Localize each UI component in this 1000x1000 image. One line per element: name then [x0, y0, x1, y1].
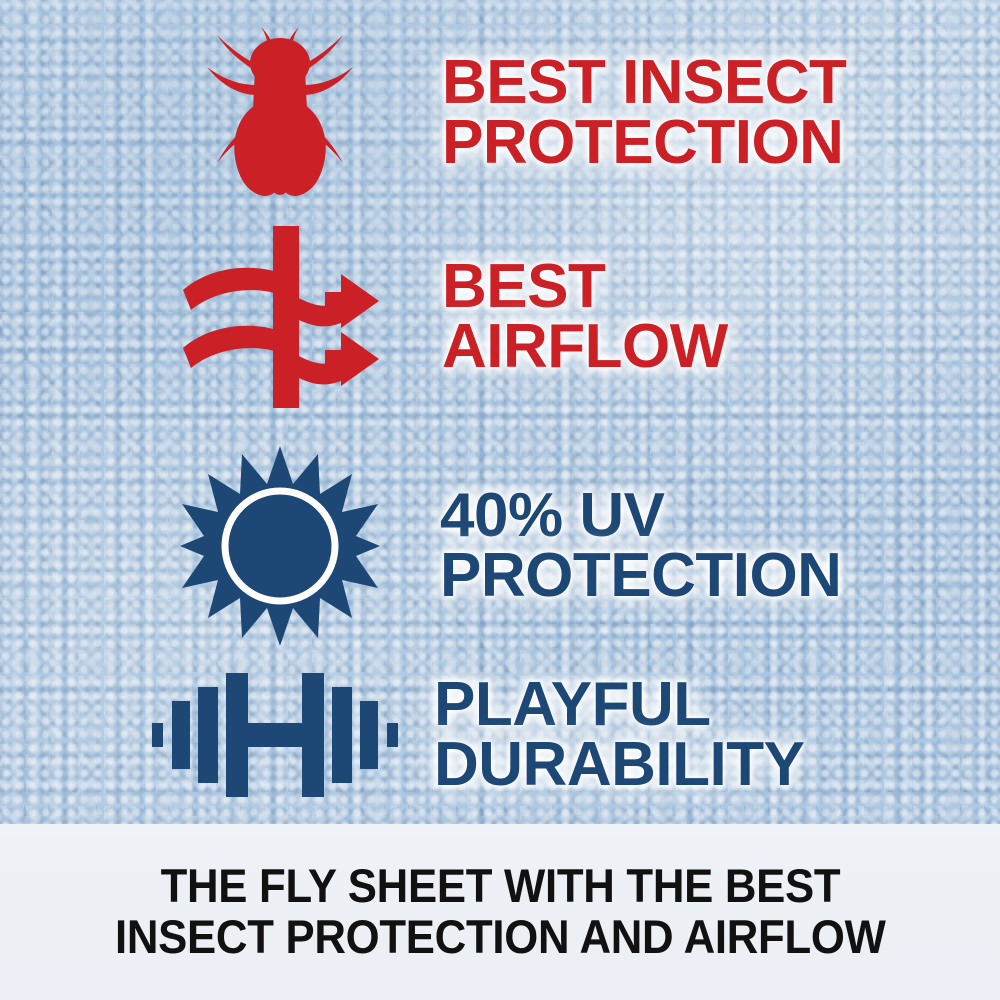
caption-line: INSECT PROTECTION AND AIRFLOW	[115, 912, 886, 963]
feature-row-airflow: BEST AIRFLOW	[150, 222, 990, 412]
feature-line: BEST INSECT	[442, 53, 846, 113]
feature-line: PROTECTION	[442, 113, 846, 173]
feature-text-uv-protection: 40% UV PROTECTION	[440, 486, 841, 605]
feature-row-durability: PLAYFUL DURABILITY	[140, 650, 990, 820]
feature-text-durability: PLAYFUL DURABILITY	[434, 675, 804, 794]
feature-row-insect-protection: BEST INSECT PROTECTION	[150, 18, 990, 208]
caption-line: THE FLY SHEET WITH THE BEST	[160, 861, 840, 912]
product-feature-infographic: BEST INSECT PROTECTION	[0, 0, 1000, 1000]
feature-line: PLAYFUL	[434, 675, 804, 735]
dumbbell-icon	[150, 665, 400, 805]
airflow-icon-container	[150, 222, 410, 412]
feature-row-uv-protection: 40% UV PROTECTION	[150, 446, 990, 646]
feature-text-insect-protection: BEST INSECT PROTECTION	[442, 53, 846, 172]
feature-line: PROTECTION	[440, 546, 841, 606]
feature-line: BEST	[442, 257, 728, 317]
fly-icon	[195, 23, 365, 203]
feature-line: AIRFLOW	[442, 317, 728, 377]
caption-bar: THE FLY SHEET WITH THE BEST INSECT PROTE…	[0, 824, 1000, 1000]
feature-line: DURABILITY	[434, 735, 804, 795]
dumbbell-icon-container	[140, 650, 410, 820]
feature-line: 40% UV	[440, 486, 841, 546]
feature-text-airflow: BEST AIRFLOW	[442, 257, 728, 376]
fly-icon-container	[150, 18, 410, 208]
airflow-icon	[165, 222, 395, 412]
sun-icon	[180, 446, 380, 646]
sun-icon-container	[150, 446, 410, 646]
